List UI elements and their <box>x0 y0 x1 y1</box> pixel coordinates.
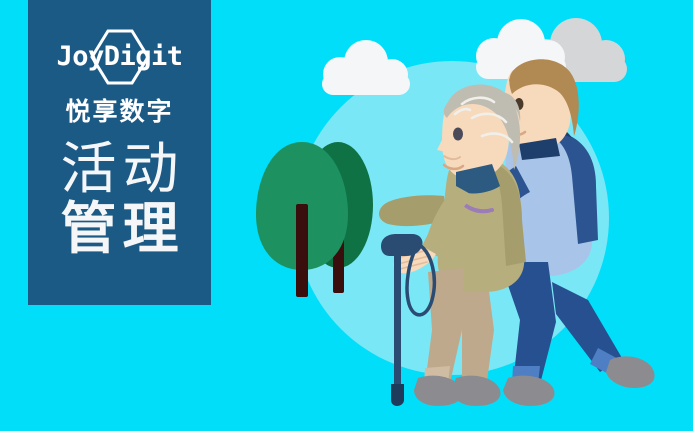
page-title: 活动 管理 <box>28 140 211 260</box>
logo-lockup: JoyDigit 悦享数字 <box>28 28 211 133</box>
logo-mark: JoyDigit <box>28 28 211 86</box>
headline-line-1: 活动 <box>28 140 211 200</box>
logo-chinese-name: 悦享数字 <box>28 92 211 128</box>
elderly-woman-eye <box>453 128 463 141</box>
logo-wordmark: JoyDigit <box>28 28 211 86</box>
cane-shaft <box>394 248 401 393</box>
cane-tip <box>391 384 404 406</box>
brand-panel: JoyDigit 悦享数字 活动 管理 <box>28 0 211 305</box>
poster-canvas: JoyDigit 悦享数字 活动 管理 <box>0 0 693 431</box>
headline-line-2: 管理 <box>28 200 211 260</box>
